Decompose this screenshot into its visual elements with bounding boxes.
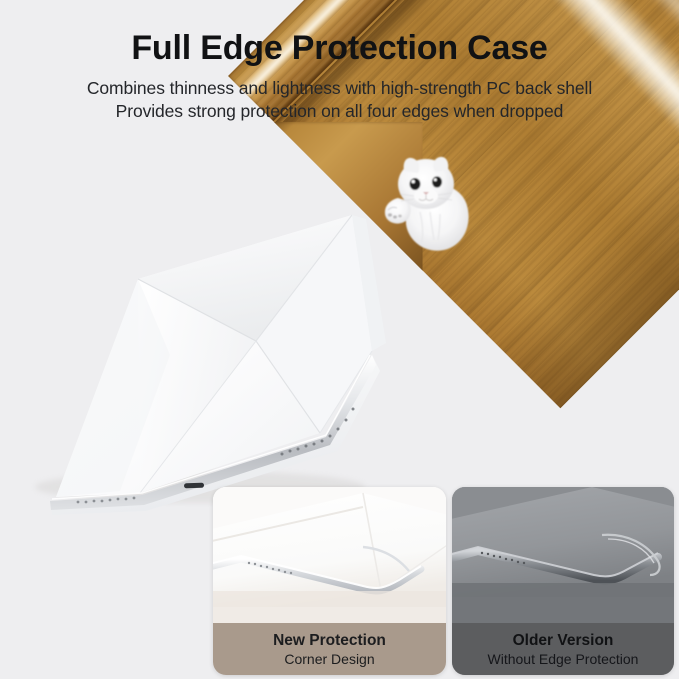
panel-older-version-subtitle: Without Edge Protection <box>488 650 639 668</box>
cat-ear-left <box>404 158 420 173</box>
product-feature-image: New Protection Corner Design <box>0 0 679 679</box>
panel-older-version-caption: Older Version Without Edge Protection <box>452 623 674 675</box>
cat-eye-right <box>432 176 442 187</box>
tablet-with-folio-case <box>20 175 420 515</box>
panel-new-protection[interactable]: New Protection Corner Design <box>213 487 446 675</box>
panel-new-protection-title: New Protection <box>273 631 386 650</box>
cat-ear-right <box>433 157 448 172</box>
panel-older-version-title: Older Version <box>513 631 614 650</box>
folio-cover <box>56 215 386 497</box>
panel-older-version[interactable]: Older Version Without Edge Protection <box>452 487 674 675</box>
panel-new-protection-caption: New Protection Corner Design <box>213 623 446 675</box>
new-protection-illustration <box>213 487 446 629</box>
panel-new-protection-subtitle: Corner Design <box>284 650 374 668</box>
panel-new-protection-image <box>213 487 446 629</box>
panel-older-version-image <box>452 487 674 629</box>
usb-c-port <box>184 483 204 489</box>
cat-eye-highlight <box>434 178 437 181</box>
older-version-illustration <box>452 487 674 629</box>
